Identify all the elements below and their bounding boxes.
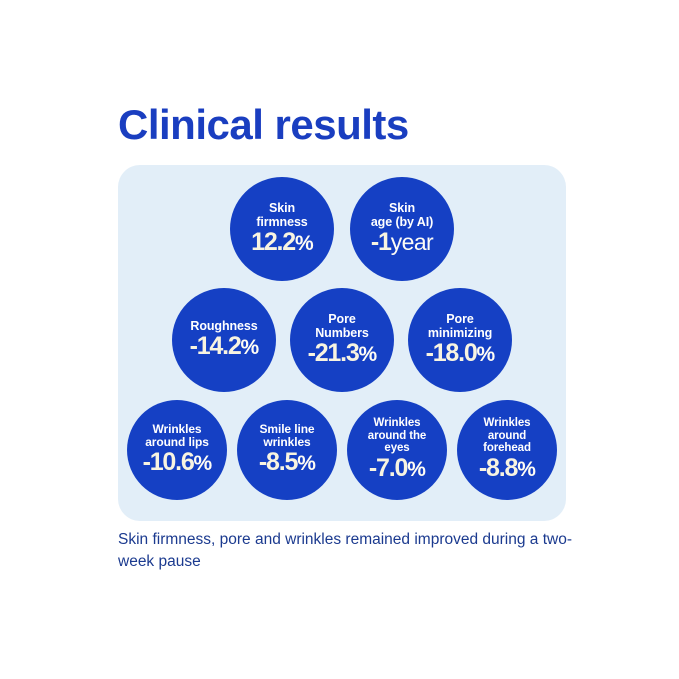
bubble-row-1: Skinfirmness12.2%Skinage (by AI)-1year xyxy=(118,177,566,281)
stat-value-unit: % xyxy=(517,458,535,481)
stat-value-unit: % xyxy=(295,232,313,255)
stat-label-line: Pore xyxy=(446,312,473,326)
stat-bubble-pore-numbers: PoreNumbers-21.3% xyxy=(290,288,394,392)
stat-label-line: around the xyxy=(368,430,426,442)
stat-value-unit: % xyxy=(297,452,315,475)
stat-value-number: -1 xyxy=(371,228,391,256)
caption: Skin firmness, pore and wrinkles remaine… xyxy=(118,529,588,573)
stat-value-number: -8.5 xyxy=(259,448,297,476)
stat-bubble-skin-firmness: Skinfirmness12.2% xyxy=(230,177,334,281)
stat-value-unit: % xyxy=(359,343,377,366)
stat-label-line: around lips xyxy=(145,435,209,449)
stat-label-line: Skin xyxy=(389,201,415,215)
stat-value-skin-firmness: 12.2% xyxy=(251,230,313,255)
stat-label-pore-minimizing: Poreminimizing xyxy=(408,312,512,340)
stat-bubble-wrinkles-around-lips: Wrinklesaround lips-10.6% xyxy=(127,400,227,500)
stat-label-wrinkles-around-lips: Wrinklesaround lips xyxy=(127,423,227,450)
stat-value-smile-line-wrinkles: -8.5% xyxy=(259,450,315,475)
stat-label-line: Smile line xyxy=(259,422,314,436)
stat-label-line: eyes xyxy=(384,442,409,454)
stat-value-number: -10.6 xyxy=(143,448,194,476)
stat-value-pore-minimizing: -18.0% xyxy=(426,341,495,366)
stat-value-skin-age: -1year xyxy=(371,230,433,255)
stat-value-unit: % xyxy=(241,336,259,359)
stat-label-roughness: Roughness xyxy=(172,319,276,333)
stat-label-line: Wrinkles xyxy=(153,422,202,436)
stat-label-line: age (by AI) xyxy=(371,215,433,229)
stat-label-line: minimizing xyxy=(428,326,492,340)
stat-label-line: wrinkles xyxy=(263,435,310,449)
stat-value-unit: year xyxy=(391,229,433,255)
stat-value-number: -8.8 xyxy=(479,454,517,482)
stat-value-unit: % xyxy=(477,343,495,366)
stat-label-line: Pore xyxy=(328,312,355,326)
stat-label-pore-numbers: PoreNumbers xyxy=(290,312,394,340)
stat-bubble-roughness: Roughness-14.2% xyxy=(172,288,276,392)
stat-label-skin-firmness: Skinfirmness xyxy=(230,201,334,229)
clinical-results-infographic: Clinical results Skinfirmness12.2%Skinag… xyxy=(0,0,679,679)
stat-label-line: around xyxy=(488,430,526,442)
stat-value-unit: % xyxy=(407,458,425,481)
stat-bubble-pore-minimizing: Poreminimizing-18.0% xyxy=(408,288,512,392)
stat-value-wrinkles-around-eyes: -7.0% xyxy=(369,456,425,481)
bubble-row-2: Roughness-14.2%PoreNumbers-21.3%Poremini… xyxy=(118,288,566,392)
stat-value-number: -18.0 xyxy=(426,339,477,367)
stat-bubble-wrinkles-around-forehead: Wrinklesaroundforehead-8.8% xyxy=(457,400,557,500)
stat-label-line: Wrinkles xyxy=(484,417,531,429)
stat-label-wrinkles-around-eyes: Wrinklesaround theeyes xyxy=(347,417,447,456)
stat-value-wrinkles-around-forehead: -8.8% xyxy=(479,456,535,481)
stat-label-line: firmness xyxy=(256,215,307,229)
stat-bubble-wrinkles-around-eyes: Wrinklesaround theeyes-7.0% xyxy=(347,400,447,500)
stat-value-wrinkles-around-lips: -10.6% xyxy=(143,450,212,475)
stat-label-wrinkles-around-forehead: Wrinklesaroundforehead xyxy=(457,417,557,456)
stat-label-line: Wrinkles xyxy=(374,417,421,429)
stat-label-line: Roughness xyxy=(190,319,257,333)
stat-bubble-skin-age: Skinage (by AI)-1year xyxy=(350,177,454,281)
stat-value-number: -7.0 xyxy=(369,454,407,482)
stat-value-number: 12.2 xyxy=(251,228,295,256)
stat-label-line: Skin xyxy=(269,201,295,215)
stat-label-line: forehead xyxy=(483,442,531,454)
stat-value-unit: % xyxy=(194,452,212,475)
bubble-row-3: Wrinklesaround lips-10.6%Smile linewrink… xyxy=(118,400,566,500)
stat-value-roughness: -14.2% xyxy=(190,334,259,359)
stat-bubble-smile-line-wrinkles: Smile linewrinkles-8.5% xyxy=(237,400,337,500)
stat-label-smile-line-wrinkles: Smile linewrinkles xyxy=(237,423,337,450)
page-title: Clinical results xyxy=(118,104,409,146)
stat-label-skin-age: Skinage (by AI) xyxy=(350,201,454,229)
stat-label-line: Numbers xyxy=(315,326,368,340)
stat-value-number: -21.3 xyxy=(308,339,359,367)
stat-value-number: -14.2 xyxy=(190,332,241,360)
stat-value-pore-numbers: -21.3% xyxy=(308,341,377,366)
